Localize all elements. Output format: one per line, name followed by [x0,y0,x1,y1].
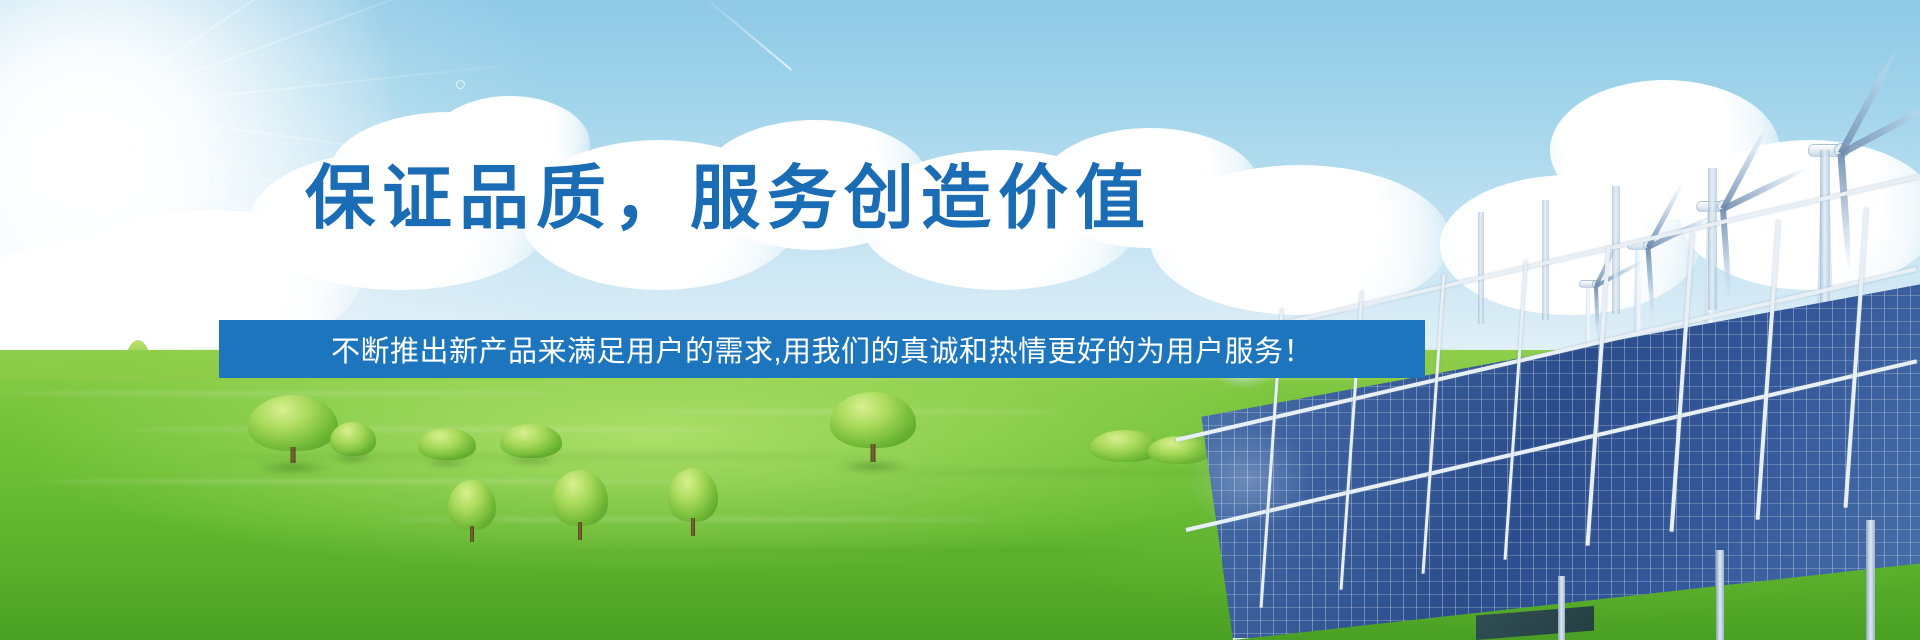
solar-panel-leg [1716,550,1724,640]
solar-panel-leg [1866,520,1875,640]
subtitle-bar: 不断推出新产品来满足用户的需求,用我们的真诚和热情更好的为用户服务！ [219,320,1425,378]
foreground-sapling [448,480,496,544]
solar-panel-underside [1476,606,1594,640]
foreground-sapling [668,468,718,538]
solar-support-post [1820,150,1830,308]
page-title: 保证品质，服务创造价值 [305,163,1152,233]
foreground-tree [248,395,338,465]
foreground-sapling [552,470,608,542]
foreground-shrub [330,422,376,464]
subtitle-text: 不断推出新产品来满足用户的需求,用我们的真诚和热情更好的为用户服务！ [331,328,1313,370]
solar-support-post [1708,168,1717,310]
foreground-shrub [418,428,476,468]
foreground-shrub [500,424,562,468]
solar-panel-leg [1558,576,1565,640]
solar-support-post [1612,186,1620,314]
solar-panel-array [1160,220,1920,640]
foreground-tree [830,392,916,464]
panel-glare [1190,430,1310,530]
solar-support-post [1478,212,1484,324]
hero-banner: 保证品质，服务创造价值 不断推出新产品来满足用户的需求,用我们的真诚和热情更好的… [0,0,1920,640]
